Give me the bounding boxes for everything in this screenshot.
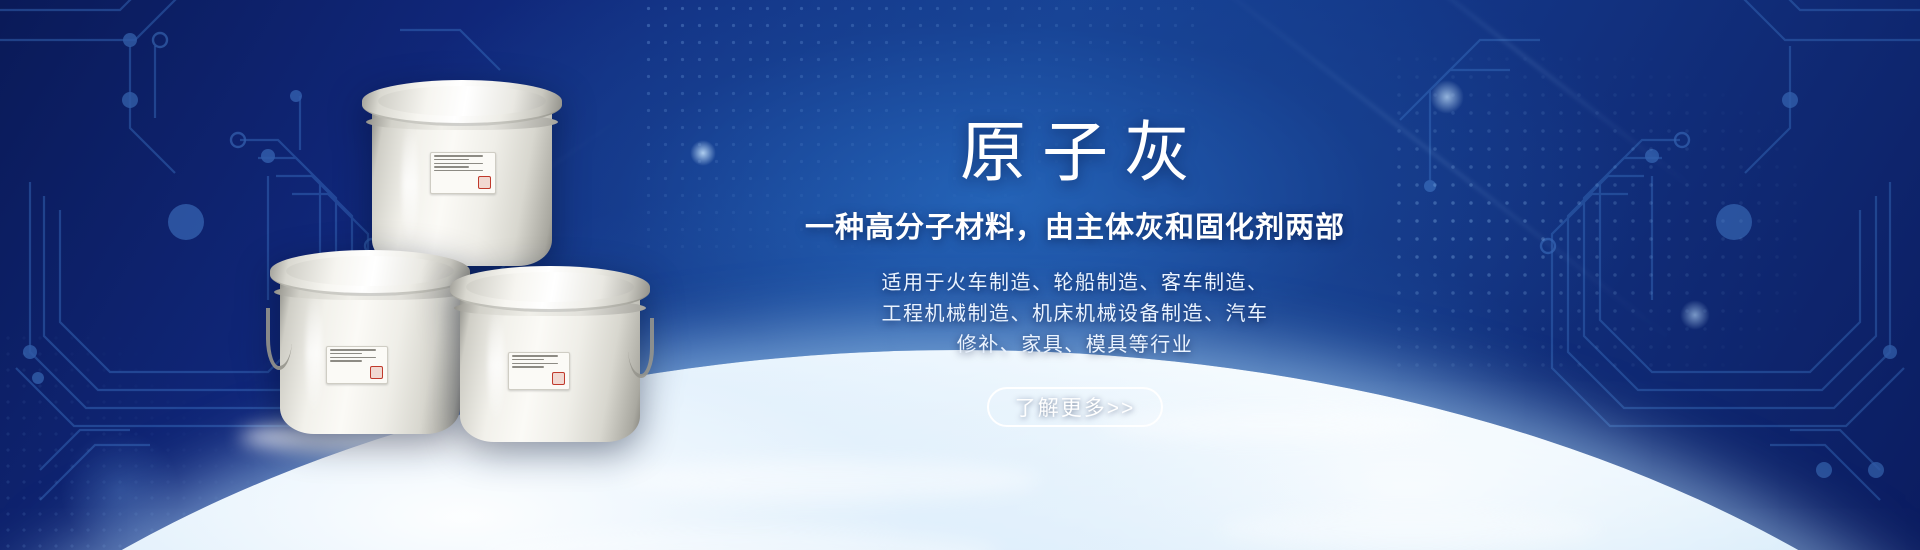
banner-subtitle: 一种高分子材料，由主体灰和固化剂两部 <box>745 204 1405 246</box>
light-streak <box>1364 0 1696 191</box>
bucket-label <box>430 152 496 194</box>
glow-dot <box>1680 300 1710 330</box>
bucket-right <box>460 266 640 442</box>
description-line-1: 适用于火车制造、轮船制造、客车制造、 <box>745 268 1405 299</box>
cta-container: 了解更多>> <box>745 387 1405 427</box>
banner-text-block: 原子灰 一种高分子材料，由主体灰和固化剂两部 适用于火车制造、轮船制造、客车制造… <box>745 118 1405 427</box>
description-line-2: 工程机械制造、机床机械设备制造、汽车 <box>745 299 1405 330</box>
glow-dot <box>690 140 716 166</box>
description-line-3: 修补、家具、模具等行业 <box>745 330 1405 361</box>
bucket-label <box>508 352 570 390</box>
banner-description: 适用于火车制造、轮船制造、客车制造、 工程机械制造、机床机械设备制造、汽车 修补… <box>745 268 1405 361</box>
banner-title: 原子灰 <box>745 118 1405 188</box>
bucket-left <box>280 250 460 434</box>
product-bucket-stack <box>280 80 680 450</box>
bucket-top <box>372 80 552 266</box>
learn-more-button[interactable]: 了解更多>> <box>987 387 1163 427</box>
glow-dot <box>1430 80 1464 114</box>
product-hero-banner: 原子灰 一种高分子材料，由主体灰和固化剂两部 适用于火车制造、轮船制造、客车制造… <box>0 0 1920 550</box>
bucket-label <box>326 346 388 384</box>
dot-grid-texture-right <box>1390 50 1810 380</box>
